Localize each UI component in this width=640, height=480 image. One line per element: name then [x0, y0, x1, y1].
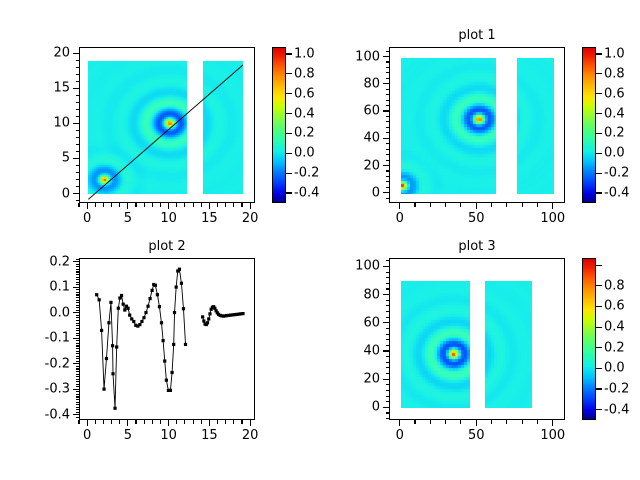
heatmap-field: [517, 58, 554, 194]
y-tick-label: 100: [0, 50, 380, 63]
colorbar-tick: [596, 327, 602, 328]
title-plot3: plot 3: [458, 240, 495, 254]
y-tick-minor: [76, 305, 80, 306]
series-marker: [180, 282, 183, 285]
colorbar-tick-label: 1.0: [604, 47, 625, 60]
series-marker: [109, 301, 112, 304]
colorbar-tick-label: 0.4: [604, 321, 625, 334]
y-tick-minor: [386, 187, 390, 188]
x-tick-minor: [193, 420, 194, 424]
heatmap-block: [485, 281, 532, 408]
y-tick-major: [383, 110, 389, 111]
colorbar-tick: [596, 192, 602, 193]
y-tick-minor: [76, 279, 80, 280]
y-tick-label: -0.1: [0, 332, 70, 345]
y-tick-major: [383, 322, 389, 323]
x-tick-minor: [430, 203, 431, 207]
x-tick-minor: [430, 420, 431, 424]
y-tick-minor: [76, 366, 80, 367]
y-tick-major: [383, 266, 389, 267]
x-tick-minor: [201, 203, 202, 207]
series-marker: [169, 389, 172, 392]
colorbar-tick-label: 0.6: [604, 300, 625, 313]
x-tick-label: 5: [124, 429, 132, 442]
x-tick-minor: [152, 203, 153, 207]
colorbar-tick-label: 0.8: [604, 279, 625, 292]
x-tick-minor: [225, 203, 226, 207]
x-tick-minor: [119, 203, 120, 207]
x-tick-minor: [135, 203, 136, 207]
series-marker: [158, 305, 161, 308]
x-tick-minor: [445, 420, 446, 424]
x-tick-minor: [95, 420, 96, 424]
series-marker: [122, 303, 125, 306]
y-tick-minor: [76, 330, 80, 331]
y-tick-minor: [386, 143, 390, 144]
series-marker: [163, 359, 166, 362]
x-tick-minor: [193, 203, 194, 207]
x-tick-minor: [144, 203, 145, 207]
y-tick-minor: [76, 172, 80, 173]
x-tick-minor: [414, 203, 415, 207]
y-tick-minor: [386, 100, 390, 101]
y-tick-minor: [386, 305, 390, 306]
heatmap-field: [401, 58, 496, 194]
series-marker: [100, 329, 103, 332]
y-tick-minor: [76, 302, 80, 303]
colorbar-tick-label: 0.4: [604, 107, 625, 120]
y-tick-label: 40: [0, 132, 380, 145]
x-tick-minor: [78, 420, 79, 424]
y-tick-minor: [386, 105, 390, 106]
y-tick-minor: [386, 384, 390, 385]
y-tick-major: [383, 165, 389, 166]
series-marker: [117, 307, 120, 310]
x-tick-minor: [217, 420, 218, 424]
x-tick-minor: [111, 203, 112, 207]
figure-canvas: 0510152005101520-0.4-0.20.00.20.40.60.81…: [0, 0, 640, 480]
colorbar-plot1: [582, 47, 596, 203]
y-tick-major: [383, 294, 389, 295]
y-tick-label: 0: [0, 186, 380, 199]
y-tick-label: 0: [0, 401, 380, 414]
colorbar-tick-label: -0.2: [604, 383, 629, 396]
x-tick-minor: [176, 420, 177, 424]
y-tick-minor: [386, 334, 390, 335]
y-tick-major: [383, 56, 389, 57]
x-tick-major: [399, 203, 400, 209]
x-tick-label: 100: [540, 429, 565, 442]
x-tick-minor: [184, 420, 185, 424]
colorbar-tick: [596, 53, 602, 54]
x-tick-label: 0: [83, 429, 91, 442]
colorbar-tick-label: 0.0: [604, 362, 625, 375]
x-tick-minor: [522, 420, 523, 424]
x-tick-minor: [445, 203, 446, 207]
y-tick-minor: [386, 272, 390, 273]
x-tick-minor: [233, 420, 234, 424]
x-tick-minor: [119, 420, 120, 424]
y-tick-minor: [76, 417, 80, 418]
y-tick-minor: [386, 288, 390, 289]
y-tick-minor: [386, 373, 390, 374]
colorbar-tick-label: -0.4: [604, 403, 629, 416]
x-tick-label: 0: [83, 212, 91, 225]
colorbar-tick: [596, 285, 602, 286]
y-tick-major: [383, 192, 389, 193]
heatmap-field: [485, 281, 532, 408]
y-tick-minor: [386, 149, 390, 150]
series-marker: [182, 307, 185, 310]
y-tick-major: [383, 350, 389, 351]
y-tick-major: [73, 363, 79, 364]
y-tick-label: 80: [0, 288, 380, 301]
heatmap-block: [517, 58, 554, 194]
x-tick-minor: [103, 203, 104, 207]
x-tick-minor: [78, 203, 79, 207]
x-tick-minor: [491, 203, 492, 207]
x-tick-minor: [152, 420, 153, 424]
x-tick-label: 10: [160, 429, 177, 442]
series-marker: [123, 308, 126, 311]
y-tick-minor: [386, 127, 390, 128]
y-tick-major: [73, 123, 79, 124]
colorbar-tick-label: 0.6: [604, 87, 625, 100]
x-tick-minor: [135, 420, 136, 424]
series-marker: [173, 311, 176, 314]
colorbar-tick-label: 0.8: [604, 67, 625, 80]
y-tick-minor: [386, 78, 390, 79]
colorbar-tick: [596, 388, 602, 389]
x-tick-label: 15: [201, 429, 218, 442]
y-tick-minor: [386, 396, 390, 397]
y-tick-label: 20: [0, 159, 380, 172]
x-tick-minor: [460, 203, 461, 207]
x-tick-label: 100: [540, 212, 565, 225]
heatmap-block: [401, 58, 496, 194]
y-tick-minor: [76, 151, 80, 152]
y-tick-minor: [386, 328, 390, 329]
y-tick-minor: [386, 176, 390, 177]
x-tick-minor: [201, 420, 202, 424]
colorbar-tick: [596, 113, 602, 114]
colorbar-tick-label: 0.2: [604, 341, 625, 354]
y-tick-minor: [76, 95, 80, 96]
x-tick-minor: [176, 203, 177, 207]
y-tick-minor: [76, 368, 80, 369]
colorbar-tick: [596, 409, 602, 410]
x-tick-minor: [537, 420, 538, 424]
y-tick-minor: [76, 282, 80, 283]
y-tick-minor: [76, 391, 80, 392]
y-tick-minor: [76, 394, 80, 395]
y-tick-minor: [76, 361, 80, 362]
series-marker: [102, 388, 105, 391]
y-tick-major: [383, 407, 389, 408]
y-tick-minor: [76, 277, 80, 278]
colorbar-tick: [596, 73, 602, 74]
x-tick-minor: [95, 203, 96, 207]
colorbar-tick: [596, 153, 602, 154]
y-tick-minor: [76, 333, 80, 334]
y-tick-label: 40: [0, 344, 380, 357]
x-tick-minor: [225, 420, 226, 424]
y-tick-minor: [386, 160, 390, 161]
title-plot2: plot 2: [148, 240, 185, 254]
y-tick-minor: [386, 72, 390, 73]
x-tick-major: [168, 420, 169, 426]
colorbar-tick: [596, 133, 602, 134]
y-tick-minor: [386, 317, 390, 318]
y-tick-label: 80: [0, 77, 380, 90]
axes-plot2: [79, 258, 255, 420]
y-tick-minor: [76, 335, 80, 336]
x-tick-minor: [414, 420, 415, 424]
x-tick-label: 50: [468, 212, 485, 225]
series-marker: [162, 339, 165, 342]
y-tick-minor: [386, 412, 390, 413]
x-tick-major: [87, 420, 88, 426]
x-tick-label: 5: [124, 212, 132, 225]
x-tick-major: [552, 203, 553, 209]
y-tick-minor: [386, 181, 390, 182]
y-tick-minor: [76, 274, 80, 275]
heatmap-field: [401, 281, 470, 408]
x-tick-major: [209, 420, 210, 426]
series-marker: [146, 305, 149, 308]
y-tick-minor: [76, 396, 80, 397]
x-tick-major: [476, 420, 477, 426]
y-tick-minor: [386, 116, 390, 117]
y-tick-minor: [386, 345, 390, 346]
x-tick-minor: [241, 420, 242, 424]
y-tick-minor: [76, 102, 80, 103]
colorbar-tick: [596, 93, 602, 94]
axes-plot0: [79, 47, 255, 203]
x-tick-minor: [537, 203, 538, 207]
x-tick-minor: [103, 420, 104, 424]
y-tick-major: [383, 83, 389, 84]
y-tick-label: 20: [0, 373, 380, 386]
y-tick-major: [73, 414, 79, 415]
series-marker: [126, 307, 129, 310]
x-tick-label: 20: [242, 212, 259, 225]
x-tick-label: 10: [160, 212, 177, 225]
colorbar-tick: [596, 306, 602, 307]
colorbar-plot0: [272, 47, 286, 203]
axes-plot3: [389, 258, 565, 420]
x-tick-major: [209, 203, 210, 209]
x-tick-label: 0: [396, 212, 404, 225]
y-tick-minor: [386, 89, 390, 90]
colorbar-tick: [286, 73, 292, 74]
y-tick-minor: [76, 310, 80, 311]
x-tick-major: [476, 203, 477, 209]
y-tick-major: [73, 338, 79, 339]
y-tick-minor: [76, 74, 80, 75]
colorbar-tick: [596, 173, 602, 174]
y-tick-minor: [386, 94, 390, 95]
colorbar-tick-label: -0.2: [604, 167, 629, 180]
x-tick-major: [250, 203, 251, 209]
x-tick-label: 0: [396, 429, 404, 442]
y-tick-label: 60: [0, 316, 380, 329]
y-tick-minor: [386, 154, 390, 155]
colorbar-tick: [596, 347, 602, 348]
y-tick-minor: [386, 132, 390, 133]
colorbar-tick: [286, 93, 292, 94]
x-tick-minor: [522, 203, 523, 207]
colorbar-plot3: [582, 258, 596, 420]
axes-plot1: [389, 47, 565, 203]
x-tick-major: [399, 420, 400, 426]
x-tick-minor: [241, 203, 242, 207]
x-tick-minor: [184, 203, 185, 207]
x-tick-minor: [460, 420, 461, 424]
colorbar-tick: [286, 153, 292, 154]
colorbar-tick: [286, 173, 292, 174]
x-tick-major: [552, 420, 553, 426]
x-tick-minor: [160, 420, 161, 424]
y-tick-minor: [76, 284, 80, 285]
y-tick-minor: [386, 67, 390, 68]
colorbar-tick-label: 0.0: [294, 147, 315, 160]
y-tick-minor: [76, 307, 80, 308]
x-tick-label: 15: [201, 212, 218, 225]
x-tick-label: 20: [242, 429, 259, 442]
y-tick-label: 100: [0, 260, 380, 273]
x-tick-minor: [506, 203, 507, 207]
heatmap-block: [401, 281, 470, 408]
y-tick-label: 60: [0, 105, 380, 118]
colorbar-tick-label: 0.0: [604, 147, 625, 160]
series-marker: [241, 312, 244, 315]
x-tick-minor: [491, 420, 492, 424]
y-tick-minor: [386, 367, 390, 368]
y-tick-minor: [76, 179, 80, 180]
y-tick-major: [383, 379, 389, 380]
y-tick-major: [73, 389, 79, 390]
colorbar-tick-label: -0.4: [604, 187, 629, 200]
y-tick-minor: [76, 358, 80, 359]
colorbar-tick: [596, 368, 602, 369]
y-tick-minor: [76, 67, 80, 68]
y-tick-minor: [386, 260, 390, 261]
x-tick-major: [127, 203, 128, 209]
y-tick-minor: [386, 418, 390, 419]
y-tick-minor: [386, 362, 390, 363]
x-tick-minor: [160, 203, 161, 207]
series-marker: [208, 312, 211, 315]
x-tick-minor: [233, 203, 234, 207]
y-tick-minor: [386, 283, 390, 284]
series-marker: [144, 311, 147, 314]
y-tick-minor: [76, 386, 80, 387]
y-tick-minor: [386, 401, 390, 402]
y-tick-minor: [386, 339, 390, 340]
y-tick-minor: [76, 340, 80, 341]
x-tick-major: [127, 420, 128, 426]
x-tick-minor: [506, 420, 507, 424]
y-tick-minor: [386, 51, 390, 52]
y-tick-minor: [386, 61, 390, 62]
colorbar-tick-label: 0.2: [604, 127, 625, 140]
x-tick-minor: [217, 203, 218, 207]
y-tick-major: [383, 138, 389, 139]
x-tick-minor: [111, 420, 112, 424]
x-tick-major: [250, 420, 251, 426]
x-tick-major: [168, 203, 169, 209]
y-tick-label: 10: [0, 117, 70, 130]
y-tick-minor: [386, 356, 390, 357]
y-tick-label: -0.2: [0, 357, 70, 370]
y-tick-minor: [386, 300, 390, 301]
x-tick-major: [87, 203, 88, 209]
x-tick-label: 50: [468, 429, 485, 442]
y-tick-minor: [386, 198, 390, 199]
line-series-canvas: [80, 259, 255, 420]
x-tick-minor: [144, 420, 145, 424]
y-tick-minor: [386, 390, 390, 391]
y-tick-minor: [386, 121, 390, 122]
title-plot1: plot 1: [458, 29, 495, 43]
series-marker: [154, 284, 157, 287]
y-tick-minor: [386, 311, 390, 312]
y-tick-minor: [386, 170, 390, 171]
colorbar-tick: [596, 265, 602, 266]
y-tick-minor: [76, 200, 80, 201]
y-tick-major: [73, 312, 79, 313]
y-tick-minor: [386, 277, 390, 278]
